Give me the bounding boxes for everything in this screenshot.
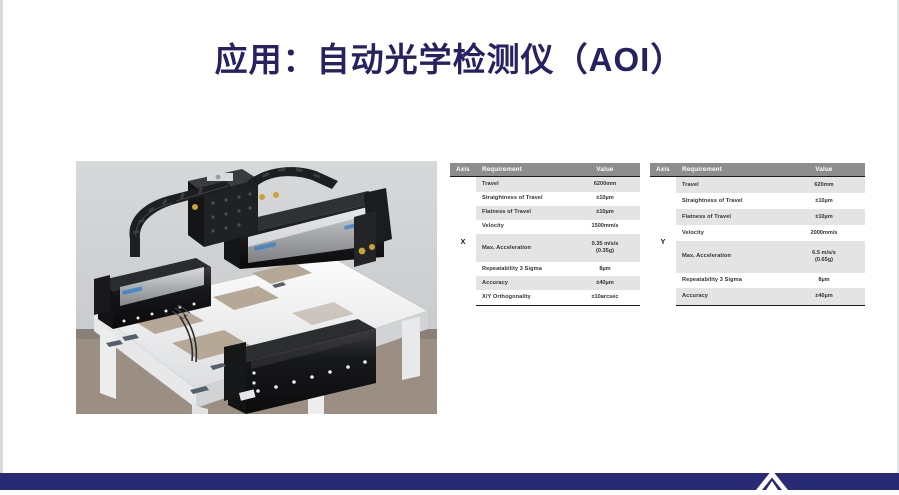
requirement-cell: Velocity: [476, 220, 570, 234]
requirement-cell: Flatness of Travel: [476, 206, 570, 220]
requirement-cell: Max. Acceleration: [476, 234, 570, 262]
column-header-axis: Axis: [650, 163, 676, 177]
y-axis-spec-table: Axis Requirement Value Y Travel 620mm St…: [650, 163, 865, 306]
value-cell: ±10µm: [570, 192, 640, 206]
axis-label-y: Y: [650, 177, 676, 306]
value-cell: ±10µm: [570, 206, 640, 220]
column-header-requirement: Requirement: [676, 163, 783, 177]
requirement-cell: Velocity: [676, 225, 783, 241]
value-cell: 6.5 m/s/s (0.65g): [783, 241, 865, 273]
value-main: 0.35 m/s/s: [592, 241, 619, 247]
table-row: Straightness of Travel ±10µm: [450, 192, 640, 206]
requirement-cell: Straightness of Travel: [476, 192, 570, 206]
requirement-cell: X/Y Orthogonality: [476, 290, 570, 305]
value-cell: ±40µm: [570, 276, 640, 290]
table-row: Repeatability 3 Sigma 8µm: [650, 273, 865, 289]
table-header-row: Axis Requirement Value: [450, 163, 640, 177]
requirement-cell: Flatness of Travel: [676, 209, 783, 225]
requirement-cell: Travel: [476, 177, 570, 192]
table-row: Max. Acceleration 0.35 m/s/s (0.35g): [450, 234, 640, 262]
requirement-cell: Accuracy: [676, 288, 783, 305]
table-row: Flatness of Travel ±10µm: [650, 209, 865, 225]
value-sub: (0.65g): [783, 257, 865, 264]
requirement-cell: Max. Acceleration: [676, 241, 783, 273]
value-cell: 8µm: [783, 273, 865, 289]
table-row: Velocity 1500mm/s: [450, 220, 640, 234]
aoi-gantry-stage-photo: [76, 161, 437, 414]
value-sub: (0.35g): [570, 248, 640, 255]
value-main: 6.5 m/s/s: [812, 250, 836, 256]
value-cell: 2000mm/s: [783, 225, 865, 241]
table-row: Velocity 2000mm/s: [650, 225, 865, 241]
column-header-value: Value: [570, 163, 640, 177]
requirement-cell: Travel: [676, 177, 783, 194]
gantry-stage-illustration: [76, 161, 437, 414]
table-row: X/Y Orthogonality ±10arcsec: [450, 290, 640, 305]
value-cell: 6200mm: [570, 177, 640, 192]
table-row: X Travel 6200mm: [450, 177, 640, 192]
value-cell: 8µm: [570, 262, 640, 276]
table-row: Flatness of Travel ±10µm: [450, 206, 640, 220]
value-cell: 1500mm/s: [570, 220, 640, 234]
page-title: 应用：自动光学检测仪（AOI）: [0, 38, 899, 82]
table-row: Max. Acceleration 6.5 m/s/s (0.65g): [650, 241, 865, 273]
axis-label-x: X: [450, 177, 476, 306]
requirement-cell: Repeatability 3 Sigma: [676, 273, 783, 289]
delta-triangle-logo: [752, 470, 792, 490]
table-header-row: Axis Requirement Value: [650, 163, 865, 177]
column-header-requirement: Requirement: [476, 163, 570, 177]
column-header-value: Value: [783, 163, 865, 177]
table-row: Straightness of Travel ±10µm: [650, 193, 865, 209]
table-row: Accuracy ±40µm: [450, 276, 640, 290]
requirement-cell: Repeatability 3 Sigma: [476, 262, 570, 276]
value-cell: 0.35 m/s/s (0.35g): [570, 234, 640, 262]
table-row: Repeatability 3 Sigma 8µm: [450, 262, 640, 276]
column-header-axis: Axis: [450, 163, 476, 177]
value-cell: ±40µm: [783, 288, 865, 305]
value-cell: ±10µm: [783, 193, 865, 209]
value-cell: ±10arcsec: [570, 290, 640, 305]
value-cell: 620mm: [783, 177, 865, 194]
requirement-cell: Accuracy: [476, 276, 570, 290]
table-row: Accuracy ±40µm: [650, 288, 865, 305]
x-axis-spec-table: Axis Requirement Value X Travel 6200mm S…: [450, 163, 640, 306]
requirement-cell: Straightness of Travel: [676, 193, 783, 209]
table-row: Y Travel 620mm: [650, 177, 865, 194]
value-cell: ±10µm: [783, 209, 865, 225]
